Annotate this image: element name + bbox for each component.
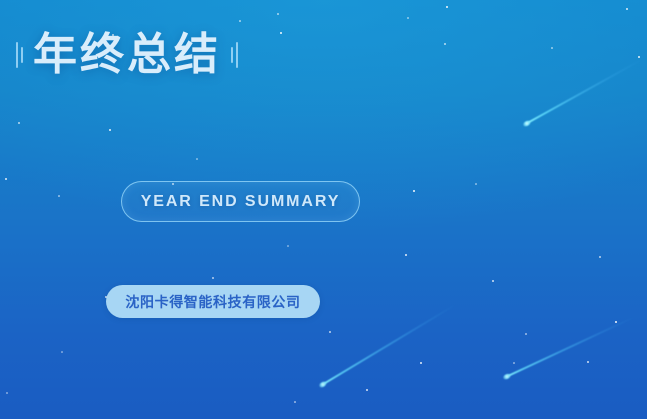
star-dot <box>525 333 527 335</box>
star-dot <box>420 362 422 364</box>
left-tick-decoration <box>16 38 23 72</box>
star-dot <box>18 122 20 124</box>
star-dot <box>294 401 296 403</box>
star-dot <box>405 254 407 256</box>
tick-mark <box>16 42 18 68</box>
star-dot <box>329 331 331 333</box>
star-dot <box>413 190 416 193</box>
meteor-head <box>318 380 327 388</box>
tick-mark <box>21 47 23 63</box>
company-name-pill: 沈阳卡得智能科技有限公司 <box>106 285 320 318</box>
meteor-head <box>522 119 531 127</box>
star-dot <box>109 129 111 131</box>
poster-canvas: 年终总结 YEAR END SUMMARY 沈阳卡得智能科技有限公司 <box>0 0 647 419</box>
star-dot <box>5 178 7 180</box>
star-dot <box>280 32 282 34</box>
star-dot <box>626 8 628 10</box>
meteor-streak <box>525 57 643 126</box>
star-dot <box>587 361 589 363</box>
meteor-streak <box>320 302 457 387</box>
right-tick-decoration <box>231 38 238 72</box>
star-dot <box>212 277 214 279</box>
star-dot <box>446 6 449 9</box>
meteor-tail <box>506 316 636 378</box>
star-dot <box>407 17 409 19</box>
tick-mark <box>236 42 238 68</box>
star-dot <box>196 158 198 160</box>
star-dot <box>444 43 446 45</box>
company-name-label: 沈阳卡得智能科技有限公司 <box>125 292 300 312</box>
star-dot <box>277 13 279 15</box>
star-dot <box>492 280 494 282</box>
star-dot <box>239 20 241 22</box>
meteor-tail <box>321 304 456 386</box>
english-subtitle-pill: YEAR END SUMMARY <box>121 181 360 222</box>
meteor-head <box>502 373 511 381</box>
star-dot <box>638 56 640 58</box>
star-dot <box>61 351 63 353</box>
star-dot <box>615 321 618 324</box>
page-title: 年终总结 <box>33 33 221 77</box>
english-subtitle-label: YEAR END SUMMARY <box>141 193 341 211</box>
star-dot <box>599 256 601 258</box>
meteor-tail <box>525 59 642 125</box>
headline-block: 年终总结 <box>16 33 238 77</box>
star-dot <box>6 392 8 394</box>
star-dot <box>58 195 60 197</box>
tick-mark <box>231 47 233 63</box>
star-dot <box>475 183 477 185</box>
meteor-streak <box>505 314 636 379</box>
star-dot <box>551 47 553 49</box>
star-dot <box>513 362 515 364</box>
star-dot <box>366 389 368 391</box>
star-dot <box>287 245 289 247</box>
